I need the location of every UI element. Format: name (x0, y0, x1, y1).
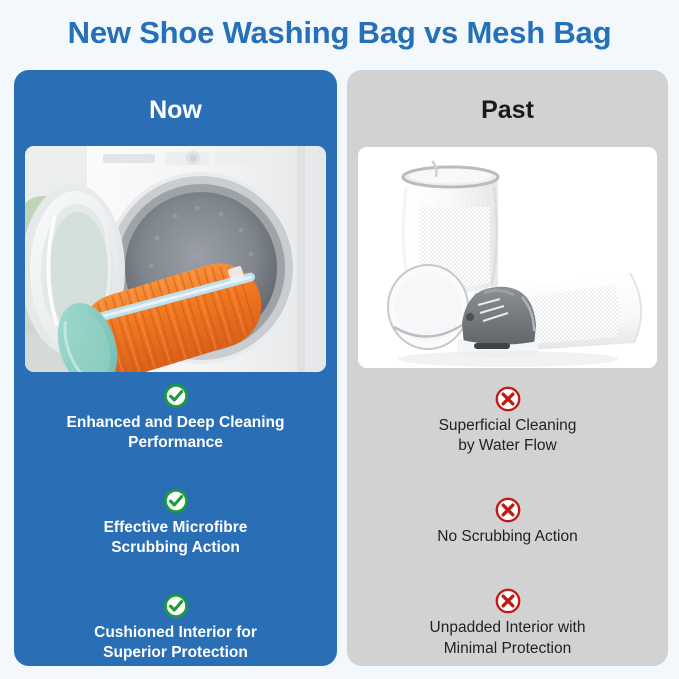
feature-text: Unpadded Interior with Minimal Protectio… (347, 618, 668, 659)
feature-line: Unpadded Interior with (361, 618, 654, 638)
panel-now: Now (14, 70, 337, 666)
x-circle-icon (495, 386, 521, 412)
panel-now-heading: Now (14, 70, 337, 125)
washing-machine-illustration (25, 146, 326, 372)
mesh-bags-illustration (358, 147, 657, 368)
feature-text: Cushioned Interior for Superior Protecti… (14, 623, 337, 664)
feature-line: Superior Protection (28, 643, 323, 663)
feature-line: No Scrubbing Action (361, 527, 654, 547)
feature-item: Enhanced and Deep Cleaning Performance (14, 383, 337, 454)
feature-line: by Water Flow (361, 436, 654, 456)
feature-text: No Scrubbing Action (347, 527, 668, 547)
feature-item: Superficial Cleaning by Water Flow (347, 386, 668, 457)
check-circle-icon (163, 488, 189, 514)
check-circle-icon (163, 383, 189, 409)
feature-line: Enhanced and Deep Cleaning (28, 413, 323, 433)
feature-item: Cushioned Interior for Superior Protecti… (14, 593, 337, 664)
feature-list-past: Superficial Cleaning by Water Flow No Sc… (347, 383, 668, 666)
photo-past-mesh-bags (358, 147, 657, 368)
feature-item: Unpadded Interior with Minimal Protectio… (347, 588, 668, 659)
check-circle-icon (163, 593, 189, 619)
feature-line: Superficial Cleaning (361, 416, 654, 436)
comparison-infographic: New Shoe Washing Bag vs Mesh Bag Now (0, 0, 679, 679)
feature-line: Performance (28, 433, 323, 453)
feature-list-now: Enhanced and Deep Cleaning Performance E… (14, 383, 337, 666)
x-circle-icon (495, 497, 521, 523)
feature-item: No Scrubbing Action (347, 497, 668, 547)
feature-text: Effective Microfibre Scrubbing Action (14, 518, 337, 559)
feature-line: Minimal Protection (361, 639, 654, 659)
photo-now-washing-machine (25, 146, 326, 372)
page-title: New Shoe Washing Bag vs Mesh Bag (0, 14, 679, 51)
x-circle-icon (495, 588, 521, 614)
feature-line: Scrubbing Action (28, 538, 323, 558)
feature-line: Effective Microfibre (28, 518, 323, 538)
panel-past-heading: Past (347, 70, 668, 125)
feature-item: Effective Microfibre Scrubbing Action (14, 488, 337, 559)
feature-text: Enhanced and Deep Cleaning Performance (14, 413, 337, 454)
feature-text: Superficial Cleaning by Water Flow (347, 416, 668, 457)
panel-past: Past (347, 70, 668, 666)
feature-line: Cushioned Interior for (28, 623, 323, 643)
